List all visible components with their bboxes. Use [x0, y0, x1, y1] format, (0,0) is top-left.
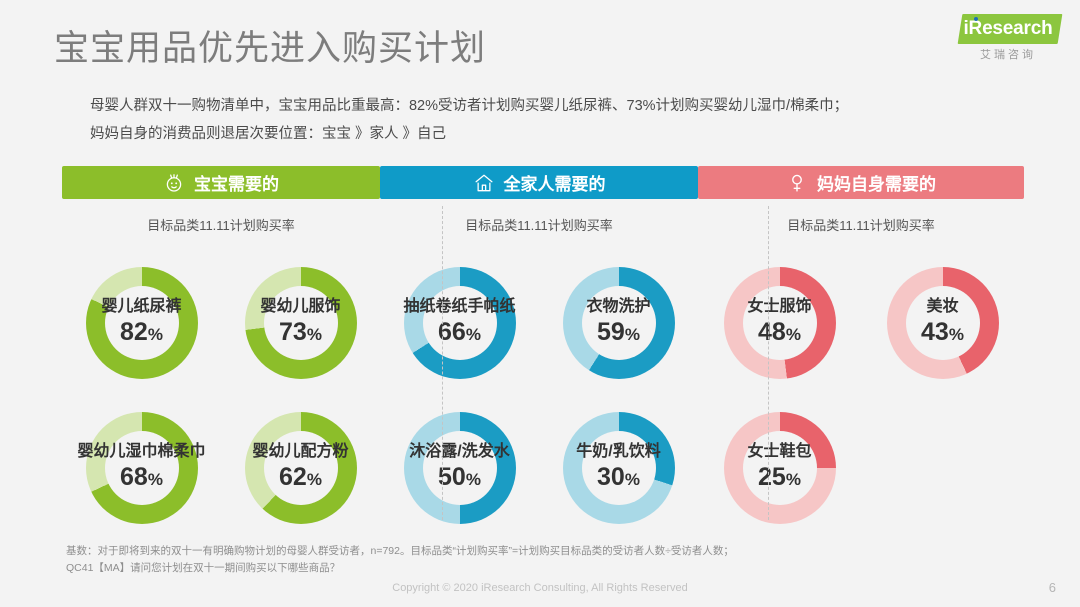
- lead-line-2: 妈妈自身的消费品则退居次要位置：宝宝 》家人 》自己: [90, 120, 1030, 148]
- donut-chart-mom-0: 女士服饰48%: [698, 250, 861, 395]
- donut-hole: [423, 431, 497, 505]
- lead-paragraph: 母婴人群双十一购物清单中，宝宝用品比重最高：82%受访者计划购买婴儿纸尿裤、73…: [90, 92, 1030, 148]
- column-subtitle-baby: 目标品类11.11计划购买率: [62, 215, 380, 234]
- donut-ring: 沐浴露/洗发水50%: [404, 412, 516, 524]
- donut-ring: 女士服饰48%: [724, 267, 836, 379]
- page-number: 6: [1049, 580, 1056, 595]
- donut-chart-mom-2: 女士鞋包25%: [698, 395, 861, 540]
- baby-face-icon: [163, 172, 185, 194]
- logo-subtitle: 艾瑞咨询: [954, 46, 1062, 62]
- donut-ring: 牛奶/乳饮料30%: [563, 412, 675, 524]
- donut-ring: 婴幼儿湿巾棉柔巾68%: [86, 412, 198, 524]
- footnote-line-2: QC41【MA】请问您计划在双十一期间购买以下哪些商品？: [66, 560, 996, 577]
- columns-container: 宝宝需要的 目标品类11.11计划购买率 婴儿纸尿裤82%婴幼儿服饰73%婴幼儿…: [62, 166, 1024, 526]
- donut-hole: [423, 286, 497, 360]
- donut-chart-baby-0: 婴儿纸尿裤82%: [62, 250, 221, 395]
- iresearch-logo: iResearch 艾瑞咨询: [954, 14, 1062, 66]
- donut-chart-family-2: 沐浴露/洗发水50%: [380, 395, 539, 540]
- donut-ring: 女士鞋包25%: [724, 412, 836, 524]
- column-header-mom: 妈妈自身需要的: [698, 166, 1024, 199]
- donut-grid-family: 抽纸卷纸手帕纸66%衣物洗护59%沐浴露/洗发水50%牛奶/乳饮料30%: [380, 250, 698, 540]
- column-header-label-mom: 妈妈自身需要的: [817, 170, 936, 195]
- slide-root: iResearch 艾瑞咨询 宝宝用品优先进入购买计划 母婴人群双十一购物清单中…: [0, 0, 1080, 607]
- column-divider-2: [768, 206, 769, 520]
- page-title: 宝宝用品优先进入购买计划: [54, 20, 486, 71]
- donut-chart-family-1: 衣物洗护59%: [539, 250, 698, 395]
- donut-hole: [743, 431, 817, 505]
- donut-chart-family-0: 抽纸卷纸手帕纸66%: [380, 250, 539, 395]
- female-symbol-icon: [786, 172, 808, 194]
- column-subtitle-family: 目标品类11.11计划购买率: [380, 215, 698, 234]
- donut-hole: [743, 286, 817, 360]
- copyright-text: Copyright © 2020 iResearch Consulting, A…: [0, 582, 1080, 594]
- column-header-label-family: 全家人需要的: [504, 170, 606, 195]
- column-header-label-baby: 宝宝需要的: [194, 170, 279, 195]
- donut-hole: [582, 431, 656, 505]
- column-mom: 妈妈自身需要的 目标品类11.11计划购买率 女士服饰48%美妆43%女士鞋包2…: [698, 166, 1024, 526]
- column-subtitle-mom: 目标品类11.11计划购买率: [698, 215, 1024, 234]
- donut-chart-baby-3: 婴幼儿配方粉62%: [221, 395, 380, 540]
- donut-ring: 抽纸卷纸手帕纸66%: [404, 267, 516, 379]
- donut-ring: 婴幼儿配方粉62%: [245, 412, 357, 524]
- column-family: 全家人需要的 目标品类11.11计划购买率 抽纸卷纸手帕纸66%衣物洗护59%沐…: [380, 166, 698, 526]
- column-header-family: 全家人需要的: [380, 166, 698, 199]
- donut-ring: 婴儿纸尿裤82%: [86, 267, 198, 379]
- donut-hole: [264, 431, 338, 505]
- donut-hole: [105, 286, 179, 360]
- donut-ring: 美妆43%: [887, 267, 999, 379]
- footnote-line-1: 基数：对于即将到来的双十一有明确购物计划的母婴人群受访者，n=792。目标品类“…: [66, 543, 996, 560]
- donut-ring: 衣物洗护59%: [563, 267, 675, 379]
- logo-dot-icon: [974, 17, 978, 21]
- donut-hole: [582, 286, 656, 360]
- donut-hole: [105, 431, 179, 505]
- donut-chart-family-3: 牛奶/乳饮料30%: [539, 395, 698, 540]
- donut-hole: [906, 286, 980, 360]
- donut-grid-mom: 女士服饰48%美妆43%女士鞋包25%: [698, 250, 1024, 540]
- logo-wordmark: iResearch: [954, 14, 1062, 44]
- donut-chart-baby-2: 婴幼儿湿巾棉柔巾68%: [62, 395, 221, 540]
- column-header-baby: 宝宝需要的: [62, 166, 380, 199]
- column-divider-1: [442, 206, 443, 520]
- donut-ring: 婴幼儿服饰73%: [245, 267, 357, 379]
- donut-grid-baby: 婴儿纸尿裤82%婴幼儿服饰73%婴幼儿湿巾棉柔巾68%婴幼儿配方粉62%: [62, 250, 380, 540]
- house-icon: [473, 172, 495, 194]
- donut-chart-baby-1: 婴幼儿服饰73%: [221, 250, 380, 395]
- lead-line-1: 母婴人群双十一购物清单中，宝宝用品比重最高：82%受访者计划购买婴儿纸尿裤、73…: [90, 92, 1030, 120]
- footnote-block: 基数：对于即将到来的双十一有明确购物计划的母婴人群受访者，n=792。目标品类“…: [66, 543, 996, 577]
- donut-chart-mom-1: 美妆43%: [861, 250, 1024, 395]
- donut-hole: [264, 286, 338, 360]
- column-baby: 宝宝需要的 目标品类11.11计划购买率 婴儿纸尿裤82%婴幼儿服饰73%婴幼儿…: [62, 166, 380, 526]
